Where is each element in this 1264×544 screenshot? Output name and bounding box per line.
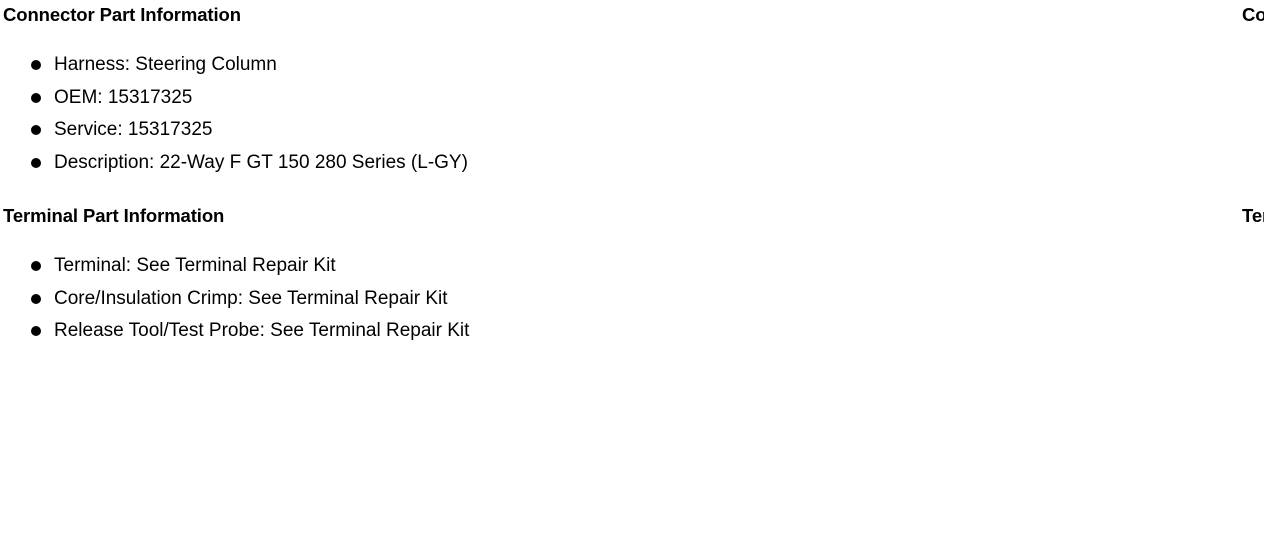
list-item: Terminal/Tray: 15304702/19 [1242,283,1264,316]
bullet-icon [31,326,41,336]
list-item-label: Service: 15317325 [54,114,212,147]
list-item: Release Tool/Test Probe: See Terminal Re… [1242,348,1264,381]
bullet-icon [31,60,41,70]
list-item: Harness Type: Instrument Panel [1242,49,1264,82]
right-terminal-section: Terminal Part Information Pins: A1-A3, A… [1242,179,1264,544]
bullet-icon [31,294,41,304]
list-item: Release Tool/Test Probe: See Terminal Re… [3,315,621,348]
list-item-label: Release Tool/Test Probe: See Terminal Re… [54,315,469,348]
left-connector-section: Connector Part Information Harness: Stee… [3,0,621,179]
list-item: Description: 22-Way M GT 150/280 Series … [1242,147,1264,180]
list-item-label: Terminal: See Terminal Repair Kit [54,250,336,283]
right-terminal-heading: Terminal Part Information [1242,205,1264,227]
left-terminal-heading: Terminal Part Information [3,205,621,227]
list-item: Pins: A4-A8, B6, B8 [1242,414,1264,447]
bullet-icon [31,125,41,135]
right-column: Connector Part Information Harness Type:… [621,0,1264,536]
left-terminal-list-group-1: Terminal: See Terminal Repair Kit Core/I… [3,227,621,348]
right-connector-section: Connector Part Information Harness Type:… [1242,0,1264,179]
right-terminal-list-group-1: Pins: A1-A3, A9-A11, B1-B3, B9, B10 Term… [1242,227,1264,380]
right-terminal-list-group-2: Pins: A4-A8, B6, B8 Terminal/Tray: 15304… [1242,380,1264,544]
list-item: Core/Insulation Crimp: See Terminal Repa… [3,283,621,316]
left-column: Connector Part Information Harness: Stee… [0,0,621,536]
right-connector-list: Harness Type: Instrument Panel OEM Conne… [1242,26,1264,179]
list-item: OEM Connector: 15317322 [1242,82,1264,115]
left-connector-list: Harness: Steering Column OEM: 15317325 S… [3,26,621,179]
list-item-label: Core/Insulation Crimp: See Terminal Repa… [54,283,448,316]
list-item: OEM: 15317325 [3,82,621,115]
list-item: Pins: A1-A3, A9-A11, B1-B3, B9, B10 [1242,250,1264,283]
list-item-label: Harness: Steering Column [54,49,277,82]
list-item: Terminal/Tray: 15304722/8 [1242,447,1264,480]
list-item-label: Description: 22-Way F GT 150 280 Series … [54,147,468,180]
list-item-label: OEM: 15317325 [54,82,192,115]
bullet-icon [31,93,41,103]
list-item: Description: 22-Way F GT 150 280 Series … [3,147,621,180]
list-item: Terminal: See Terminal Repair Kit [3,250,621,283]
left-connector-heading: Connector Part Information [3,4,621,26]
left-terminal-section: Terminal Part Information Terminal: See … [3,179,621,348]
list-item: Service Connector: 13578569 [1242,114,1264,147]
list-item: Service: 15317325 [3,114,621,147]
right-connector-heading: Connector Part Information [1242,4,1264,26]
connector-information-sheet: Connector Part Information Harness: Stee… [0,0,1264,536]
list-item: Core/Insulation Crimp: See Terminal Repa… [1242,315,1264,348]
list-item: Harness: Steering Column [3,49,621,82]
list-item: Release Tool/Test Probe: 15315247/J-3561… [1242,512,1264,544]
list-item: Core/Insulation Crimp: E/C [1242,479,1264,512]
bullet-icon [31,261,41,271]
bullet-icon [31,158,41,168]
